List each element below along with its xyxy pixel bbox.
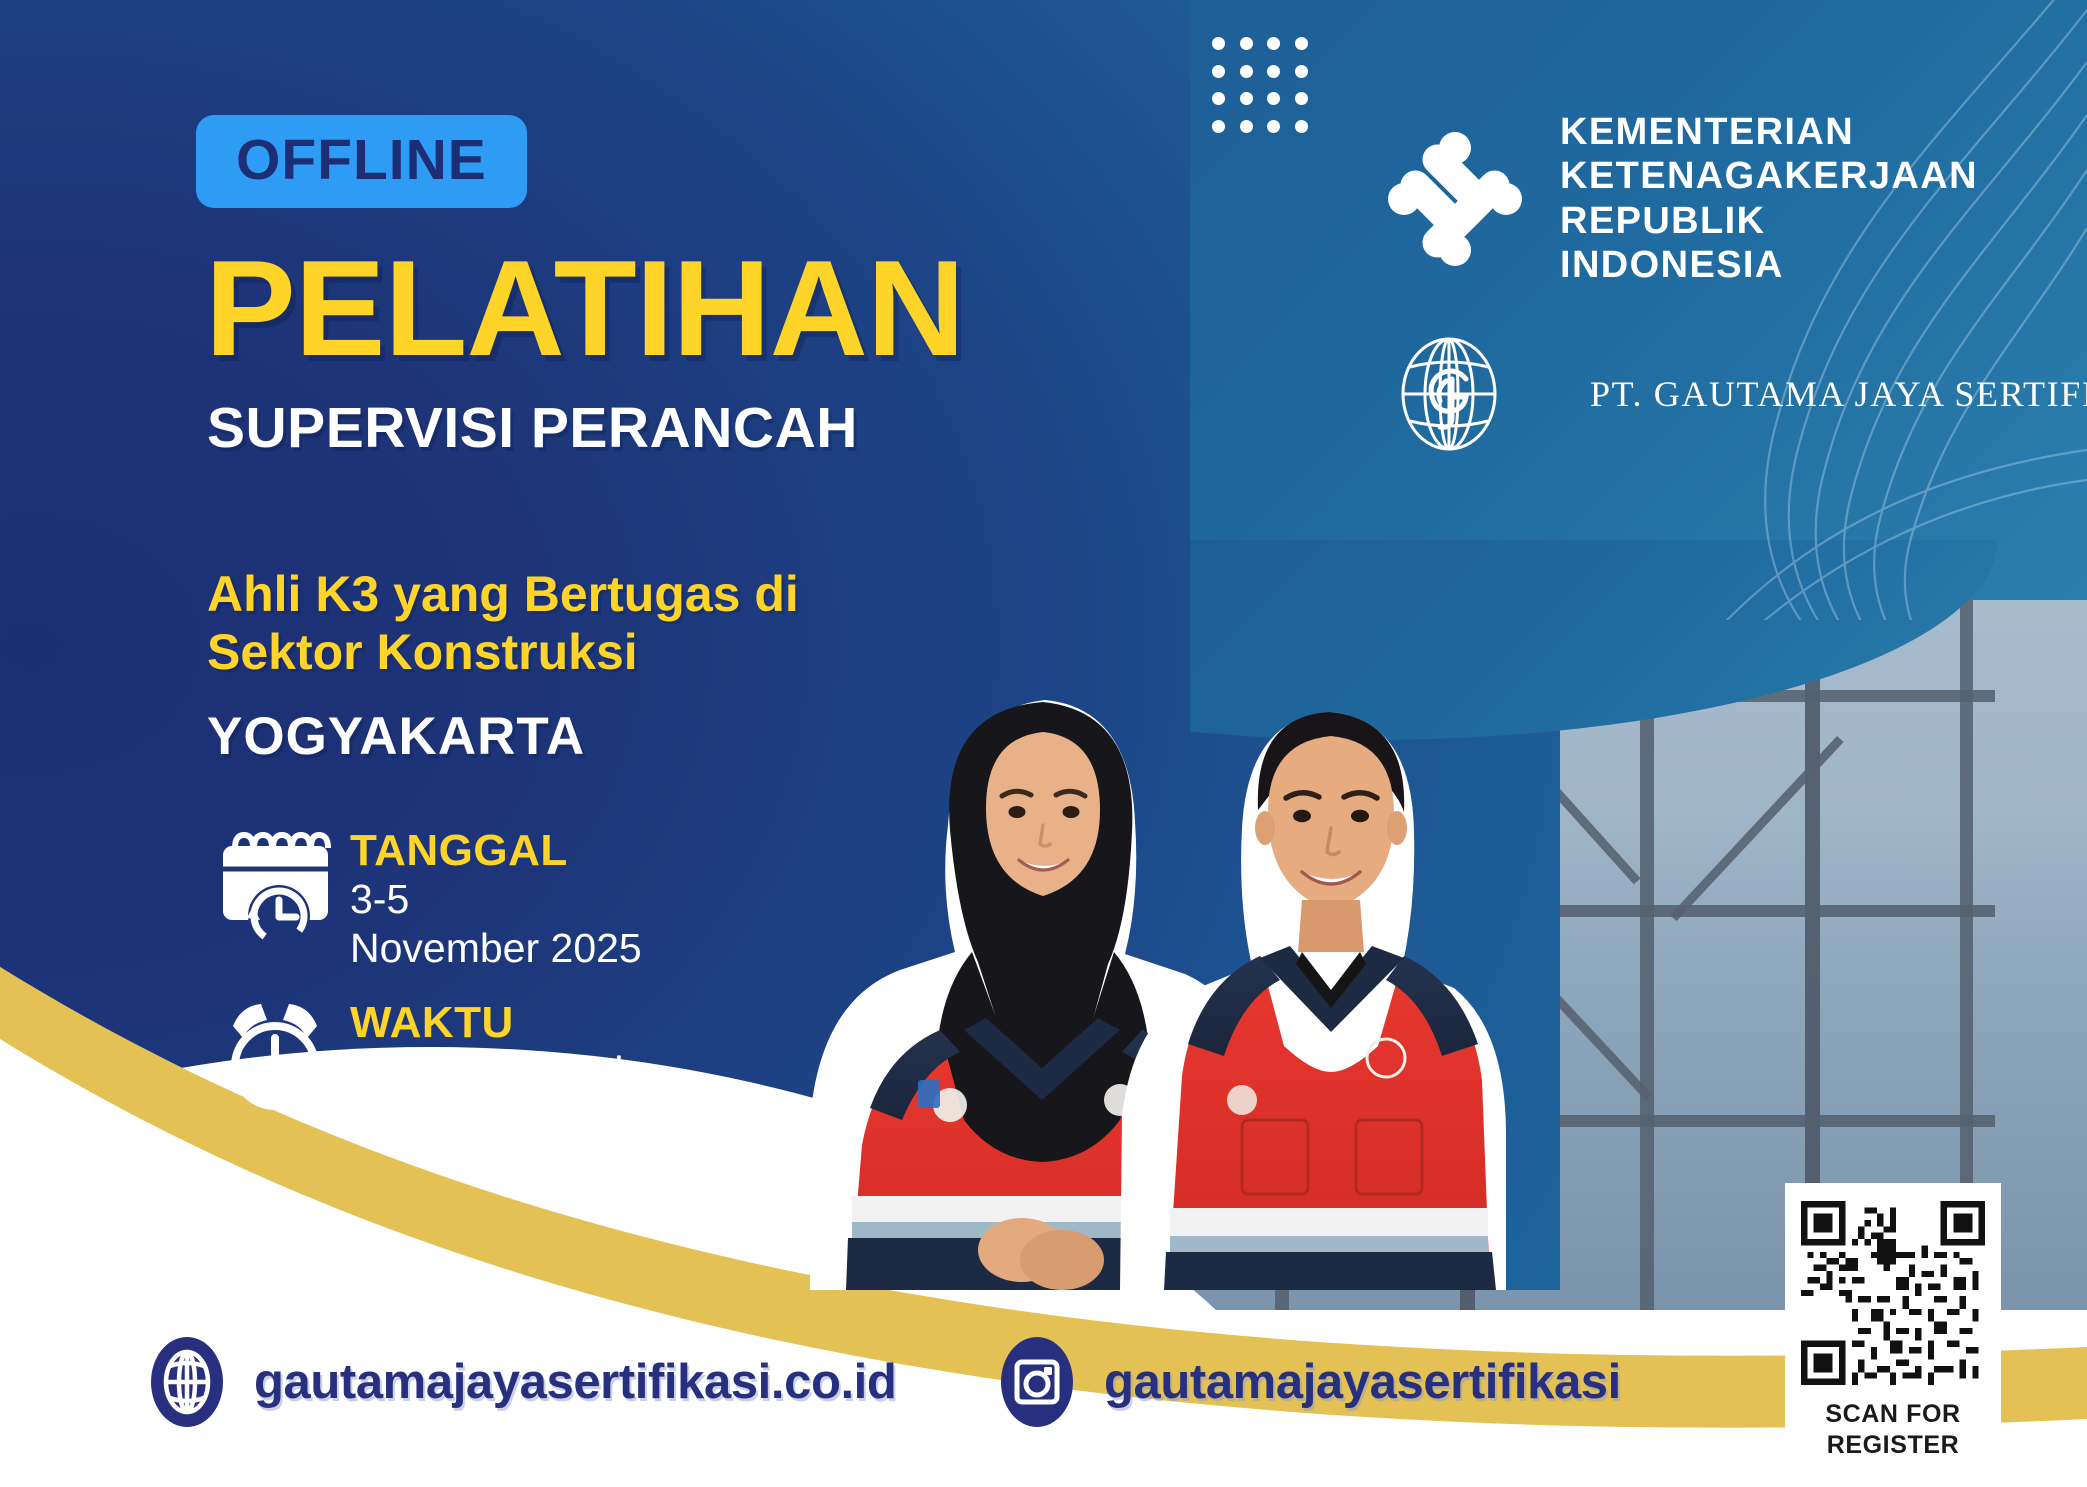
event-city: YOGYAKARTA bbox=[207, 710, 585, 763]
event-date-row: TANGGAL 3-5 November 2025 bbox=[216, 828, 642, 972]
date-value-line-1: 3-5 bbox=[350, 877, 642, 923]
calendar-clock-icon bbox=[216, 828, 334, 946]
date-label: TANGGAL bbox=[350, 828, 642, 874]
event-date-text: TANGGAL 3-5 November 2025 bbox=[350, 828, 642, 972]
qr-code-icon[interactable] bbox=[1801, 1201, 1985, 1385]
teal-header-band bbox=[1190, 0, 2087, 600]
instagram-contact[interactable]: gautamajayasertifikasi bbox=[1000, 1335, 1621, 1429]
offline-badge: OFFLINE bbox=[196, 115, 527, 208]
page-subtitle: SUPERVISI PERANCAH bbox=[207, 400, 858, 457]
qr-register-card[interactable]: SCAN FOR REGISTER bbox=[1785, 1183, 2001, 1476]
globe-monogram-icon bbox=[1390, 335, 1508, 453]
date-value-line-2: November 2025 bbox=[350, 926, 642, 972]
event-time-row: WAKTU 09.00 - Selesai bbox=[216, 1000, 624, 1112]
dot-grid-decoration bbox=[1205, 30, 1315, 140]
target-audience-line-2: Sektor Konstruksi bbox=[207, 623, 799, 681]
instagram-handle[interactable]: gautamajayasertifikasi bbox=[1104, 1354, 1621, 1410]
ministry-name: KEMENTERIAN KETENAGAKERJAAN REPUBLIK IND… bbox=[1560, 110, 1978, 288]
headline-column: OFFLINE PELATIHAN SUPERVISI PERANCAH Ahl… bbox=[0, 0, 1000, 1290]
kemnaker-logo-icon bbox=[1380, 124, 1530, 274]
qr-caption: SCAN FOR REGISTER bbox=[1801, 1399, 1985, 1462]
footer-contacts: gautamajayasertifikasi.co.id gautamajaya… bbox=[0, 1287, 2087, 1487]
page-title: PELATIHAN bbox=[205, 240, 964, 376]
time-label: WAKTU bbox=[350, 1000, 624, 1046]
instagram-icon bbox=[1000, 1335, 1074, 1429]
company-name: PT. GAUTAMA JAYA SERTIFIKASI bbox=[1590, 373, 2087, 415]
alarm-clock-icon bbox=[216, 1000, 334, 1112]
time-value: 09.00 - Selesai bbox=[350, 1049, 624, 1095]
website-url[interactable]: gautamajayasertifikasi.co.id bbox=[254, 1354, 896, 1410]
qr-caption-line-1: SCAN FOR bbox=[1801, 1399, 1985, 1430]
event-time-text: WAKTU 09.00 - Selesai bbox=[350, 1000, 624, 1095]
target-audience-line-1: Ahli K3 yang Bertugas di bbox=[207, 565, 799, 623]
company-logo-block: PT. GAUTAMA JAYA SERTIFIKASI bbox=[1390, 335, 2087, 453]
qr-caption-line-2: REGISTER bbox=[1801, 1430, 1985, 1461]
globe-icon bbox=[150, 1335, 224, 1429]
poster-canvas: OFFLINE PELATIHAN SUPERVISI PERANCAH Ahl… bbox=[0, 0, 2087, 1487]
website-contact[interactable]: gautamajayasertifikasi.co.id bbox=[150, 1335, 896, 1429]
ministry-logo-block: KEMENTERIAN KETENAGAKERJAAN REPUBLIK IND… bbox=[1380, 110, 1978, 288]
target-audience-text: Ahli K3 yang Bertugas di Sektor Konstruk… bbox=[207, 565, 799, 681]
